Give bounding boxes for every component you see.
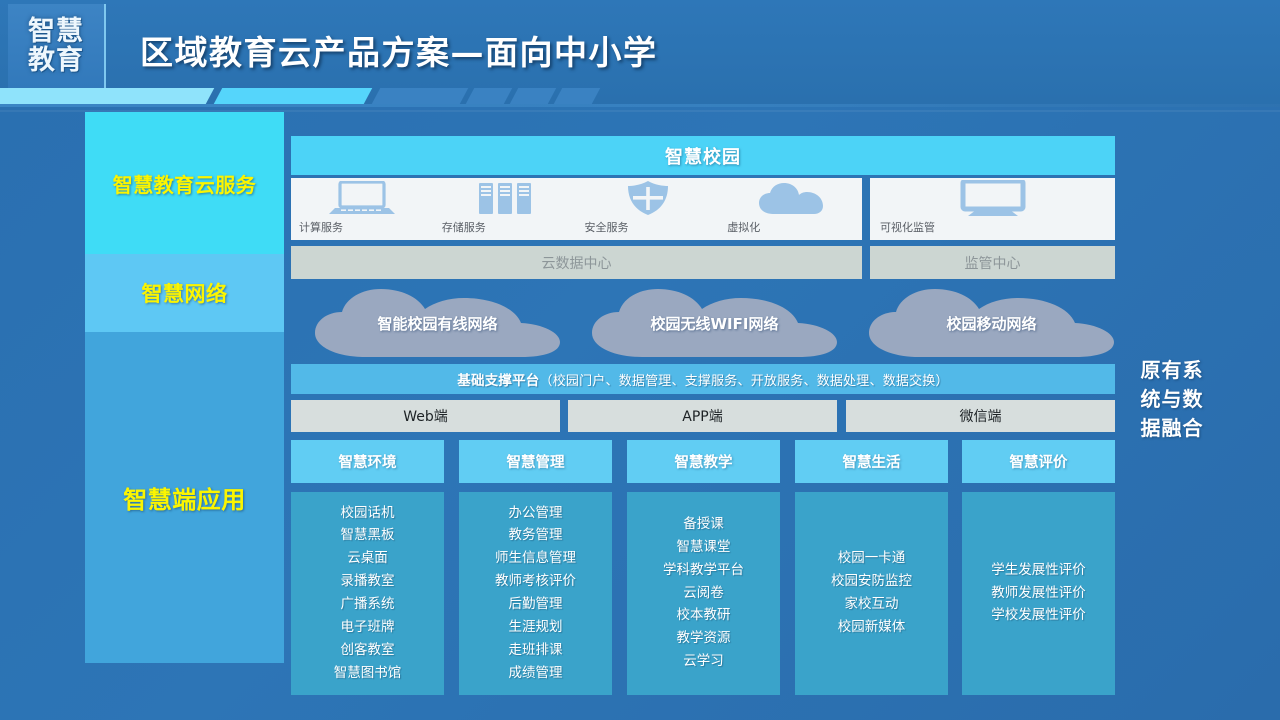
app-item[interactable]: 校园新媒体	[838, 617, 906, 639]
app-item[interactable]: 教学资源	[677, 628, 731, 650]
legacy-note-line-3: 据融合	[1134, 414, 1210, 443]
header-underline	[0, 104, 1280, 107]
service-item-security[interactable]: 安全服务	[577, 178, 720, 240]
terminal-label-web: Web端	[403, 406, 448, 426]
header-decor-stripes	[0, 88, 1280, 104]
app-item[interactable]: 校园话机	[341, 503, 395, 525]
platform-title: 基础支撑平台	[457, 369, 539, 389]
service-label-security: 安全服务	[585, 219, 629, 235]
network-cloud-row: 智能校园有线网络 校园无线WIFI网络 校园移动网络	[291, 286, 1115, 360]
app-item[interactable]: 教师考核评价	[495, 571, 576, 593]
shield-icon	[577, 180, 720, 216]
stripe-light-2	[214, 88, 373, 104]
logo: 智慧 教育	[8, 4, 106, 88]
app-item[interactable]: 师生信息管理	[495, 548, 576, 570]
app-item[interactable]: 学科教学平台	[663, 560, 744, 582]
service-label-storage: 存储服务	[442, 219, 486, 235]
app-item[interactable]: 教师发展性评价	[991, 583, 1086, 605]
app-items-management: 办公管理 教务管理 师生信息管理 教师考核评价 后勤管理 生涯规划 走班排课 成…	[459, 492, 612, 695]
server-rack-icon	[434, 180, 577, 216]
app-header-environment[interactable]: 智慧环境	[291, 440, 444, 483]
app-items-life: 校园一卡通 校园安防监控 家校互动 校园新媒体	[795, 492, 948, 695]
app-header-evaluation[interactable]: 智慧评价	[962, 440, 1115, 483]
app-header-teaching[interactable]: 智慧教学	[627, 440, 780, 483]
app-item[interactable]: 备授课	[683, 514, 724, 536]
cloud-data-center-bar: 云数据中心	[291, 246, 862, 279]
row-label-column: 智慧教育云服务 智慧网络 智慧端应用	[85, 112, 284, 663]
terminal-button-web[interactable]: Web端	[291, 400, 560, 432]
application-grid: 智慧环境 校园话机 智慧黑板 云桌面 录播教室 广播系统 电子班牌 创客教室 智…	[291, 440, 1115, 695]
terminal-row: Web端 APP端 微信端	[291, 400, 1115, 432]
service-item-virtualization[interactable]: 虚拟化	[719, 178, 862, 240]
app-item[interactable]: 电子班牌	[341, 617, 395, 639]
app-item[interactable]: 成绩管理	[509, 663, 563, 685]
service-label-virtualization: 虚拟化	[727, 219, 760, 235]
app-items-environment: 校园话机 智慧黑板 云桌面 录播教室 广播系统 电子班牌 创客教室 智慧图书馆	[291, 492, 444, 695]
app-item[interactable]: 走班排课	[509, 640, 563, 662]
app-item[interactable]: 生涯规划	[509, 617, 563, 639]
app-item[interactable]: 学校发展性评价	[991, 605, 1086, 627]
supervision-center-bar: 监管中心	[870, 246, 1115, 279]
network-cloud-mobile[interactable]: 校园移动网络	[863, 286, 1120, 360]
app-item[interactable]: 创客教室	[341, 640, 395, 662]
terminal-button-app[interactable]: APP端	[568, 400, 837, 432]
stripe-light-1	[0, 88, 214, 104]
service-label-visual-supervision: 可视化监管	[880, 219, 935, 235]
app-item[interactable]: 学生发展性评价	[991, 560, 1086, 582]
network-label-wifi: 校园无线WIFI网络	[651, 313, 779, 334]
app-item[interactable]: 办公管理	[509, 503, 563, 525]
network-label-mobile: 校园移动网络	[946, 313, 1036, 334]
stripe-dark-4	[554, 88, 601, 104]
monitor-service-panel[interactable]: 可视化监管	[870, 178, 1115, 240]
app-column-life: 智慧生活 校园一卡通 校园安防监控 家校互动 校园新媒体	[795, 440, 948, 695]
app-item[interactable]: 后勤管理	[509, 594, 563, 616]
app-item[interactable]: 智慧黑板	[341, 525, 395, 547]
logo-line-1: 智慧	[28, 17, 84, 46]
service-item-compute[interactable]: 计算服务	[291, 178, 434, 240]
row-label-network: 智慧网络	[85, 254, 284, 332]
app-column-evaluation: 智慧评价 学生发展性评价 教师发展性评价 学校发展性评价	[962, 440, 1115, 695]
app-item[interactable]: 校园一卡通	[838, 548, 906, 570]
terminal-button-wechat[interactable]: 微信端	[846, 400, 1115, 432]
network-cloud-wifi[interactable]: 校园无线WIFI网络	[586, 286, 843, 360]
app-item[interactable]: 云学习	[683, 651, 724, 673]
row-label-applications: 智慧端应用	[85, 332, 284, 663]
platform-detail: （校园门户、数据管理、支撑服务、开放服务、数据处理、数据交换）	[540, 370, 949, 389]
row-label-cloud-services: 智慧教育云服务	[85, 112, 284, 254]
smart-campus-banner: 智慧校园	[291, 136, 1115, 175]
stripe-dark-1	[372, 88, 469, 104]
stripe-dark-2	[466, 88, 513, 104]
network-cloud-wired[interactable]: 智能校园有线网络	[309, 286, 566, 360]
service-item-storage[interactable]: 存储服务	[434, 178, 577, 240]
logo-line-2: 教育	[28, 46, 84, 75]
app-item[interactable]: 校园安防监控	[831, 571, 912, 593]
page-title: 区域教育云产品方案—面向中小学	[140, 26, 658, 74]
cloud-icon	[719, 180, 862, 216]
app-column-environment: 智慧环境 校园话机 智慧黑板 云桌面 录播教室 广播系统 电子班牌 创客教室 智…	[291, 440, 444, 695]
terminal-label-wechat: 微信端	[960, 406, 1002, 426]
legacy-note-line-1: 原有系	[1134, 356, 1210, 385]
app-header-life[interactable]: 智慧生活	[795, 440, 948, 483]
cloud-service-panel: 计算服务	[291, 178, 862, 240]
app-item[interactable]: 智慧课堂	[677, 537, 731, 559]
laptop-icon	[291, 180, 434, 216]
app-items-teaching: 备授课 智慧课堂 学科教学平台 云阅卷 校本教研 教学资源 云学习	[627, 492, 780, 695]
page-header: 智慧 教育 区域教育云产品方案—面向中小学	[0, 0, 1280, 104]
diagram-stage: 智慧教育云服务 智慧网络 智慧端应用 智慧校园	[0, 112, 1280, 720]
app-item[interactable]: 智慧图书馆	[334, 663, 402, 685]
legacy-integration-note: 原有系 统与数 据融合	[1134, 356, 1210, 443]
legacy-note-line-2: 统与数	[1134, 385, 1210, 414]
app-item[interactable]: 云桌面	[347, 548, 388, 570]
app-items-evaluation: 学生发展性评价 教师发展性评价 学校发展性评价	[962, 492, 1115, 695]
network-label-wired: 智能校园有线网络	[377, 313, 497, 334]
app-item[interactable]: 家校互动	[845, 594, 899, 616]
app-column-management: 智慧管理 办公管理 教务管理 师生信息管理 教师考核评价 后勤管理 生涯规划 走…	[459, 440, 612, 695]
app-header-management[interactable]: 智慧管理	[459, 440, 612, 483]
support-platform-bar: 基础支撑平台 （校园门户、数据管理、支撑服务、开放服务、数据处理、数据交换）	[291, 364, 1115, 394]
app-item[interactable]: 广播系统	[341, 594, 395, 616]
app-item[interactable]: 录播教室	[341, 571, 395, 593]
app-item[interactable]: 云阅卷	[683, 583, 724, 605]
stripe-dark-3	[510, 88, 557, 104]
service-label-compute: 计算服务	[299, 219, 343, 235]
app-item[interactable]: 教务管理	[509, 525, 563, 547]
app-column-teaching: 智慧教学 备授课 智慧课堂 学科教学平台 云阅卷 校本教研 教学资源 云学习	[627, 440, 780, 695]
monitor-icon	[870, 180, 1115, 218]
terminal-label-app: APP端	[682, 406, 722, 426]
app-item[interactable]: 校本教研	[677, 605, 731, 627]
